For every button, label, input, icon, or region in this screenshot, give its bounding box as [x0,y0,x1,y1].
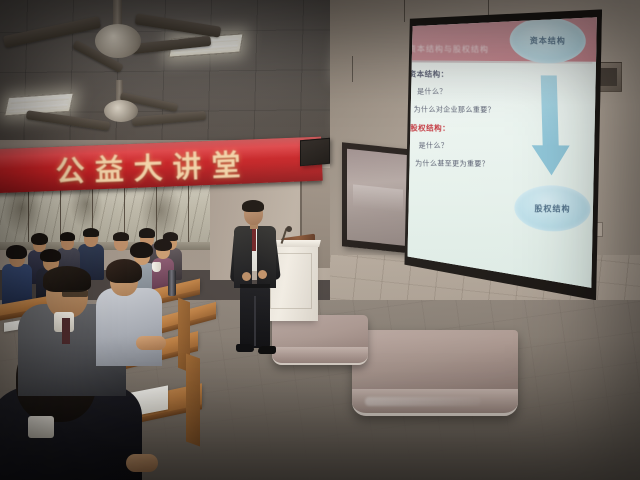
presentation-slide: 资本结构与股权结构 资本结构： 是什么？ 为什么对企业那么重要？ 股权结构： 是… [405,12,597,303]
presenter-shoe-left [236,344,254,352]
screen-surface: 资本结构与股权结构 资本结构： 是什么？ 为什么对企业那么重要？ 股权结构： 是… [405,12,597,303]
slide-line-2b: 为什么甚至更为重要？ [415,158,519,169]
slide-heading-1: 资本结构： [408,68,516,80]
presenter-jacket-right [257,226,276,288]
presenter-hair [242,200,264,212]
slide-line-1b: 为什么对企业那么重要？ [413,104,517,115]
hanging-wire [404,0,405,22]
coffee-cup [152,262,161,272]
presenter [228,200,288,360]
slide-text-column: 资本结构： 是什么？ 为什么对企业那么重要？ 股权结构： 是什么？ 为什么甚至更… [408,68,519,177]
hanging-wire [352,56,353,82]
whiteboard-surface [347,149,409,247]
slide-line-1a: 是什么？ [417,86,517,97]
foreground-attendee-hand [126,454,158,472]
shirt-collar [28,416,54,438]
vacuum-flask [168,270,176,296]
diagram-node-top: 资本结构 [509,17,586,64]
slide-line-2a: 是什么？ [418,140,518,151]
projection-screen: 资本结构与股权结构 资本结构： 是什么？ 为什么对企业那么重要？ 股权结构： 是… [402,7,602,310]
lecture-hall-photo: 公益大讲堂 资本结构与股权结构 资本结构： 是什么？ 为什么对企业那么重要？ 股… [0,0,640,480]
down-arrow-head-icon [532,145,571,175]
slide-heading-2: 股权结构： [410,122,518,134]
presenter-shoe-right [258,346,276,354]
presenter-hand-left [242,272,251,281]
raised-platform [352,330,518,416]
slide-title: 资本结构与股权结构 [408,43,489,55]
presenter-tie [252,229,256,251]
whiteboard-glare [353,184,403,213]
wall-speaker-icon [300,138,330,167]
desk-side-panel [186,353,200,446]
necktie [62,318,70,344]
audience-hand [136,336,166,350]
diagram-node-bottom: 股权结构 [514,185,591,232]
down-arrow-icon [541,75,559,147]
eyeglasses-icon [62,290,88,297]
presenter-hand-right [258,270,267,279]
